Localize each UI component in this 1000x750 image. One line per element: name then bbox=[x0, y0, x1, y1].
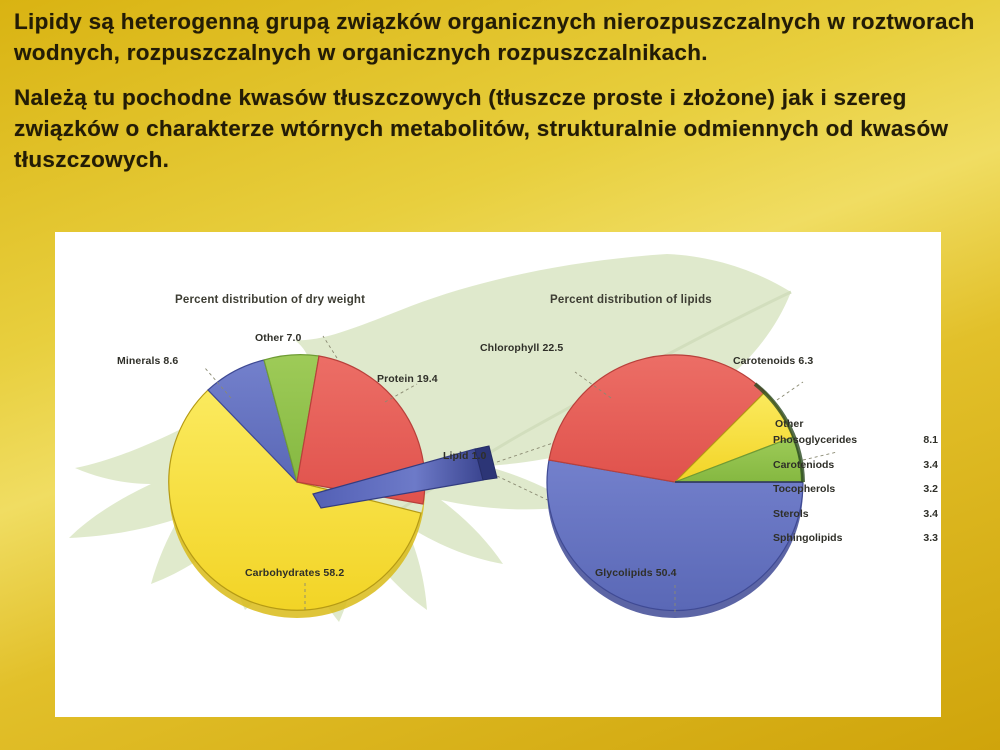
legend-row: Sphingolipids 3.3 bbox=[773, 532, 938, 544]
legend-label: Sphingolipids bbox=[773, 532, 842, 544]
legend-label: Sterols bbox=[773, 508, 809, 520]
legend-row: Tocopherols 3.2 bbox=[773, 483, 938, 495]
pie-label-carotenoids: Carotenoids 6.3 bbox=[733, 355, 813, 367]
chart-title-dry-weight: Percent distribution of dry weight bbox=[175, 294, 365, 306]
pie-label-lipid: Lipid 1.0 bbox=[443, 450, 487, 462]
legend-label: Tocopherols bbox=[773, 483, 835, 495]
legend-value: 8.1 bbox=[923, 434, 938, 446]
legend-label: Phosoglycerides bbox=[773, 434, 857, 446]
lipid-breakdown-legend: Phosoglycerides 8.1 Caroteniods 3.4 Toco… bbox=[773, 434, 938, 557]
pie-label-carbohydrates: Carbohydrates 58.2 bbox=[245, 567, 344, 579]
slide-canvas: Lipidy są heterogenną grupą związków org… bbox=[0, 0, 1000, 750]
pie-label-other-dry: Other 7.0 bbox=[255, 332, 301, 344]
pie-label-glycolipids: Glycolipids 50.4 bbox=[595, 567, 677, 579]
slide-text-block: Lipidy są heterogenną grupą związków org… bbox=[14, 6, 980, 189]
pie-label-minerals: Minerals 8.6 bbox=[117, 355, 178, 367]
legend-value: 3.4 bbox=[923, 459, 938, 471]
paragraph-1: Lipidy są heterogenną grupą związków org… bbox=[14, 6, 980, 68]
chart-title-lipids: Percent distribution of lipids bbox=[550, 294, 712, 306]
paragraph-2: Należą tu pochodne kwasów tłuszczowych (… bbox=[14, 82, 980, 175]
pie-label-protein: Protein 19.4 bbox=[377, 373, 438, 385]
pie-label-other-lipids: Other bbox=[775, 418, 804, 430]
legend-label: Caroteniods bbox=[773, 459, 834, 471]
legend-value: 3.4 bbox=[923, 508, 938, 520]
legend-row: Caroteniods 3.4 bbox=[773, 459, 938, 471]
pie-label-chlorophyll: Chlorophyll 22.5 bbox=[480, 342, 563, 354]
legend-row: Sterols 3.4 bbox=[773, 508, 938, 520]
legend-value: 3.3 bbox=[923, 532, 938, 544]
legend-value: 3.2 bbox=[923, 483, 938, 495]
figure-panel: Percent distribution of dry weight Perce… bbox=[55, 232, 941, 717]
legend-row: Phosoglycerides 8.1 bbox=[773, 434, 938, 446]
